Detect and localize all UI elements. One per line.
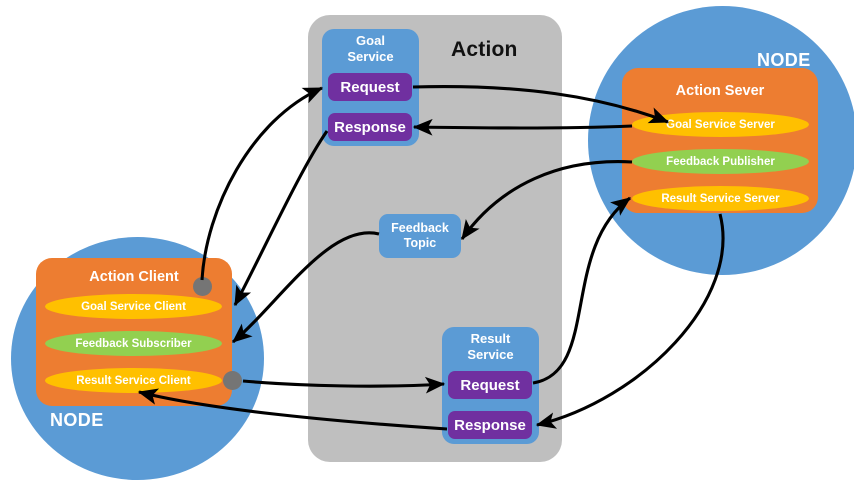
- action-panel-title: Action: [451, 38, 518, 62]
- action-server-title: Action Sever: [622, 83, 818, 99]
- feedback-topic-text: Feedback Topic: [391, 221, 449, 251]
- goal-client-junction-dot: [193, 277, 212, 296]
- pill-feedback-subscriber[interactable]: Feedback Subscriber: [45, 331, 222, 356]
- goal-service-response-box[interactable]: Response: [328, 113, 412, 141]
- pill-goal-service-server[interactable]: Goal Service Server: [632, 112, 809, 137]
- result-service-request-box[interactable]: Request: [448, 371, 532, 399]
- result-service-title-line1: Result: [471, 331, 511, 346]
- pill-goal-service-client[interactable]: Goal Service Client: [45, 294, 222, 319]
- feedback-topic-line1: Feedback: [391, 221, 449, 235]
- goal-service-title: Goal Service: [322, 33, 419, 65]
- goal-service-request-box[interactable]: Request: [328, 73, 412, 101]
- result-service-response-box[interactable]: Response: [448, 411, 532, 439]
- feedback-topic-card[interactable]: Feedback Topic: [379, 214, 461, 258]
- action-architecture-diagram: Action NODE Action Sever Goal Service Se…: [0, 0, 854, 480]
- goal-service-title-line1: Goal: [356, 33, 385, 48]
- client-node-label: NODE: [50, 410, 104, 431]
- pill-result-service-server[interactable]: Result Service Server: [632, 186, 809, 211]
- goal-service-title-line2: Service: [347, 49, 393, 64]
- result-service-title-line2: Service: [467, 347, 513, 362]
- result-client-junction-dot: [223, 371, 242, 390]
- arrow-goal-client-to-request: [202, 88, 322, 280]
- result-service-title: Result Service: [442, 331, 539, 363]
- pill-result-service-client[interactable]: Result Service Client: [45, 368, 222, 393]
- pill-feedback-publisher[interactable]: Feedback Publisher: [632, 149, 809, 174]
- feedback-topic-line2: Topic: [404, 236, 436, 250]
